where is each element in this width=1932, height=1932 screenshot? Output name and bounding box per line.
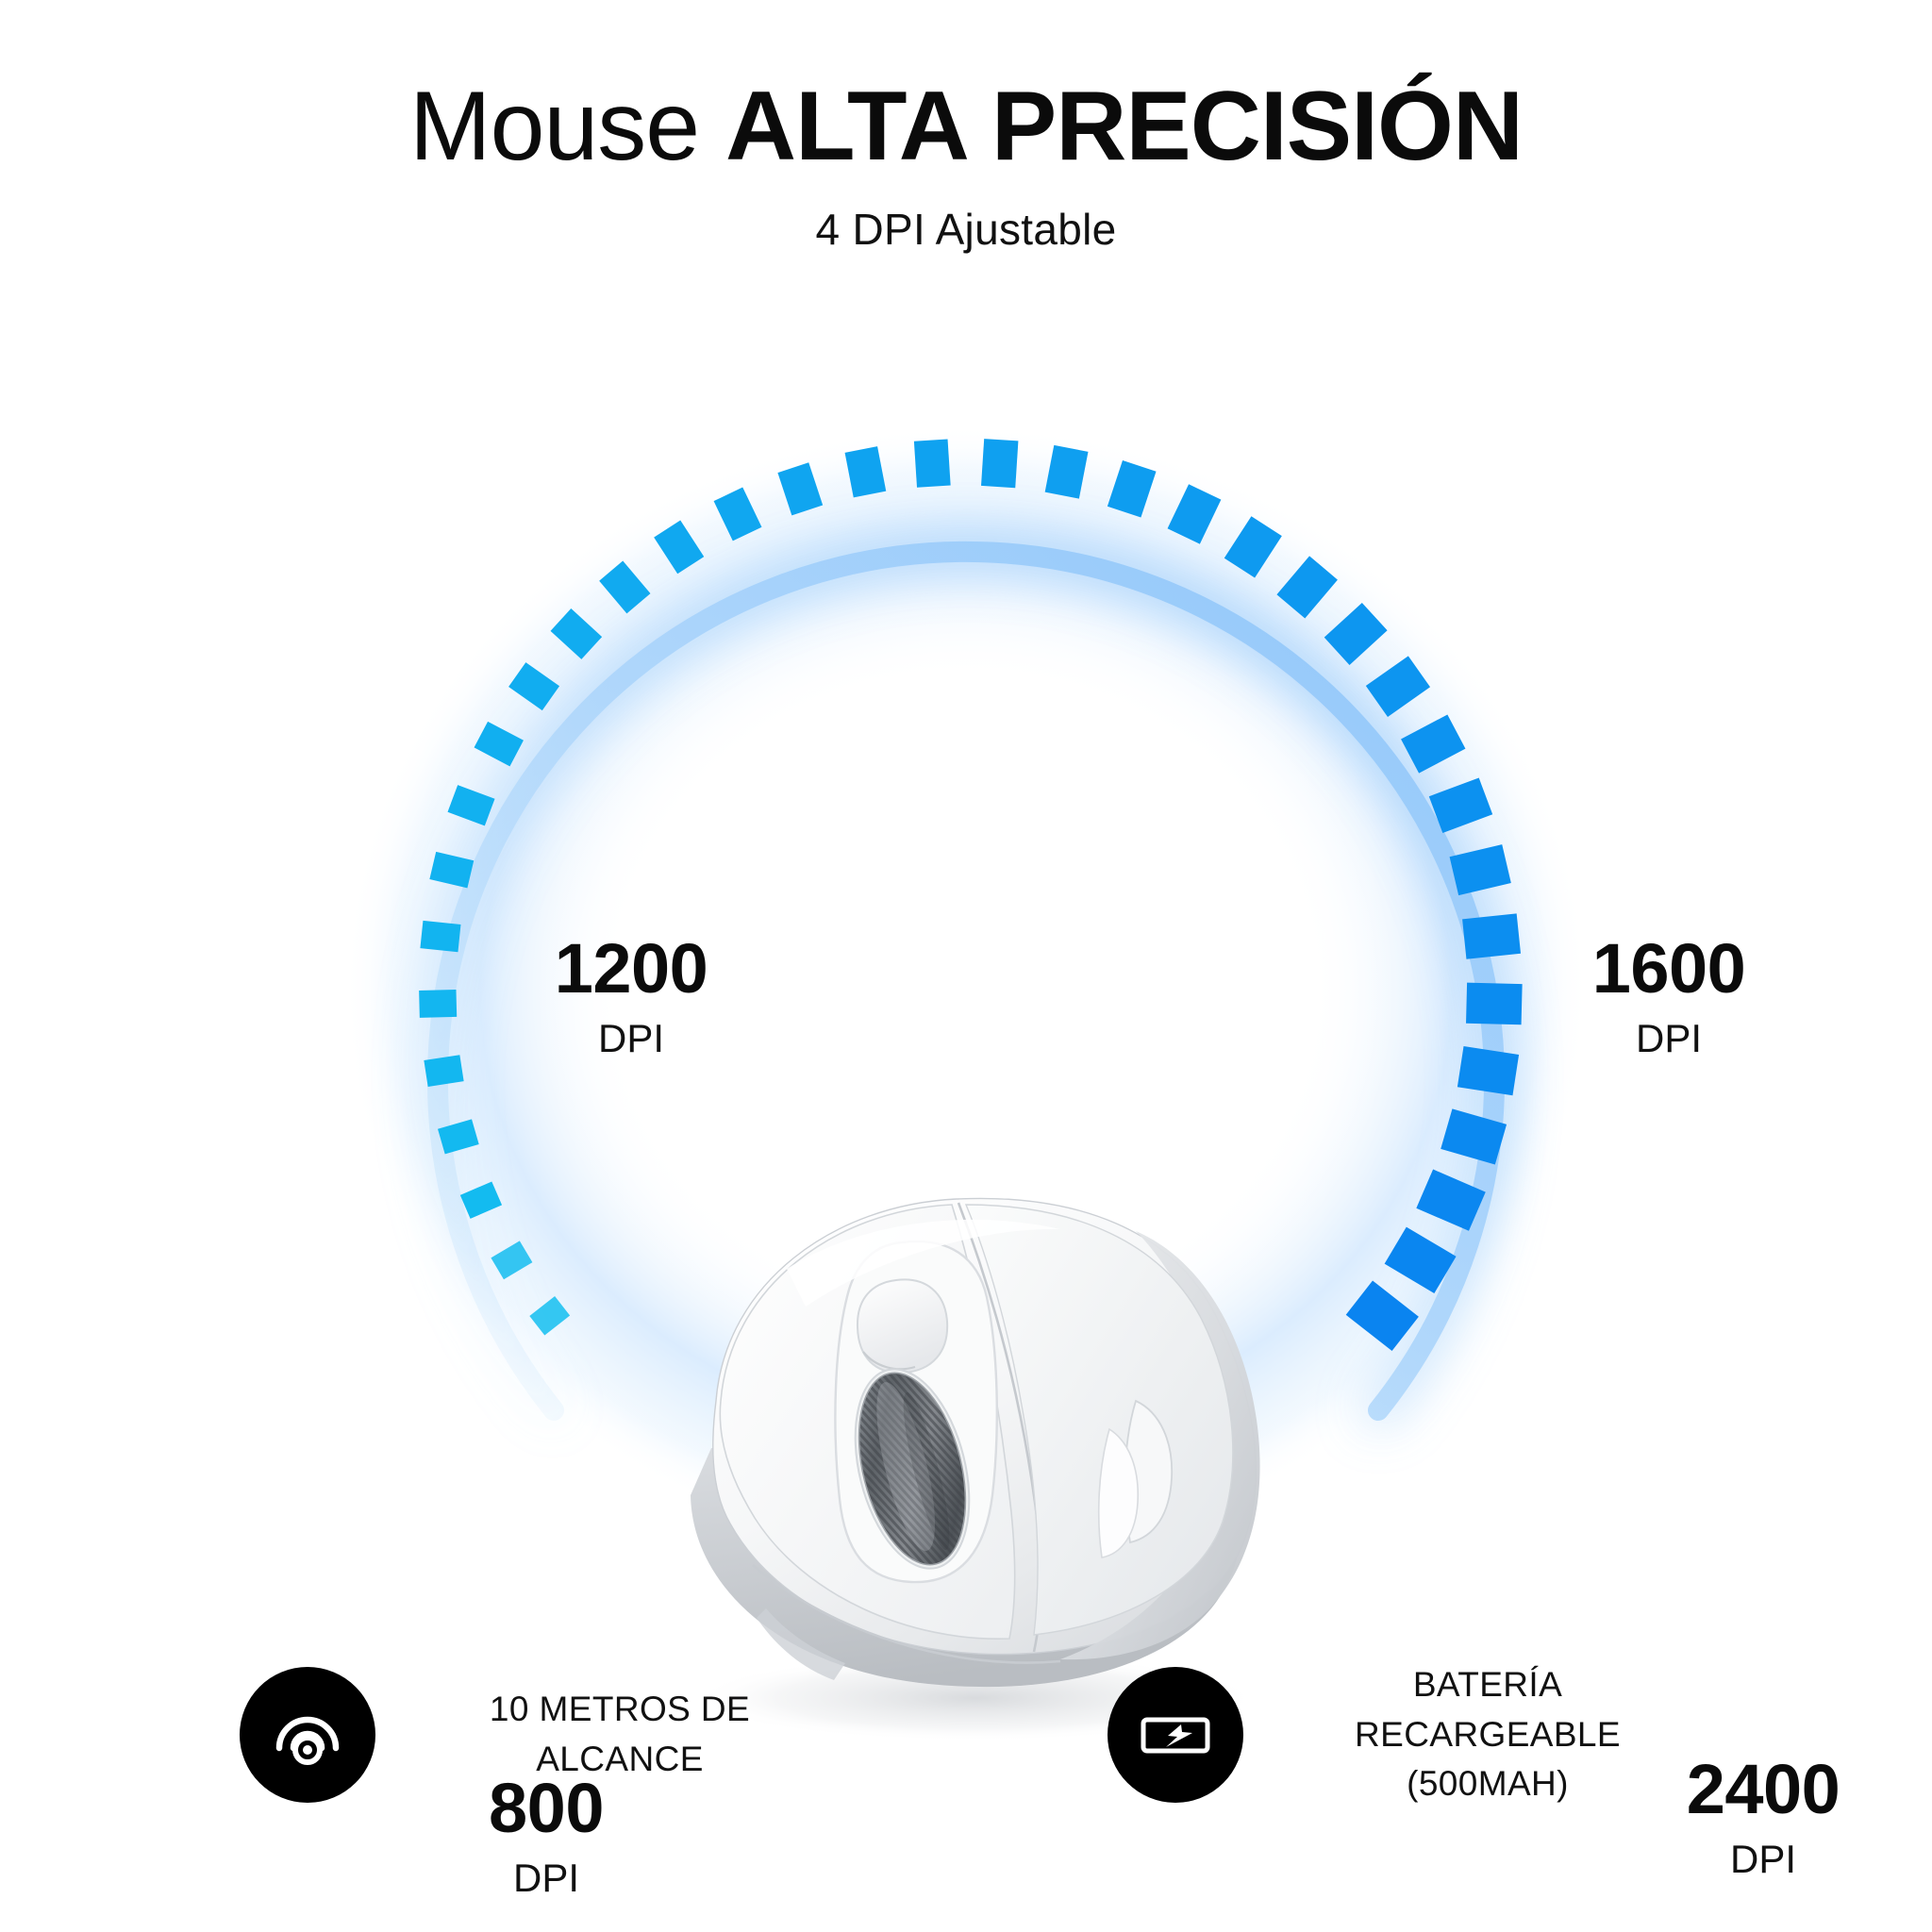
header: Mouse ALTA PRECISIÓN 4 DPI Ajustable — [0, 0, 1932, 255]
dial-tick — [914, 439, 951, 487]
dial-tick — [419, 990, 457, 1018]
feature-range-line2: ALCANCE — [415, 1735, 824, 1785]
dpi-label-1600: 1600 DPI — [1513, 934, 1824, 1058]
dpi-unit-800: DPI — [391, 1858, 702, 1898]
wireless-signal-icon — [240, 1667, 375, 1803]
feature-row: 10 METROS DE ALCANCE BATERÍA RECARGEABLE… — [0, 1660, 1932, 1809]
dial-tick — [981, 439, 1018, 488]
dial-tick — [424, 1055, 463, 1087]
dpi-label-1200: 1200 DPI — [475, 934, 787, 1058]
feature-battery-text: BATERÍA RECARGEABLE (500MAH) — [1283, 1660, 1692, 1809]
page-title-light: Mouse — [409, 72, 725, 181]
dial-tick — [420, 921, 460, 952]
dial-tick — [1462, 913, 1521, 958]
dpi-unit-2400: DPI — [1607, 1840, 1919, 1879]
page-title-bold: ALTA PRECISIÓN — [725, 72, 1523, 181]
page-title: Mouse ALTA PRECISIÓN — [0, 74, 1932, 179]
feature-range-text: 10 METROS DE ALCANCE — [415, 1685, 824, 1784]
dpi-value-1600: 1600 — [1513, 934, 1824, 1004]
page-subtitle: 4 DPI Ajustable — [0, 204, 1932, 255]
feature-range-line1: 10 METROS DE — [415, 1685, 824, 1735]
battery-charge-icon — [1108, 1667, 1243, 1803]
feature-battery-line3: (500MAH) — [1283, 1759, 1692, 1809]
feature-battery-line2: RECARGEABLE — [1283, 1710, 1692, 1760]
dpi-dial-stage: 1200 DPI 1600 DPI 800 DPI 2400 DPI — [0, 377, 1932, 1585]
mouse-dpi-button — [858, 1279, 947, 1373]
dial-tick — [1457, 1046, 1519, 1095]
dpi-unit-1600: DPI — [1513, 1019, 1824, 1058]
dpi-unit-1200: DPI — [475, 1019, 787, 1058]
feature-battery: BATERÍA RECARGEABLE (500MAH) — [1108, 1660, 1692, 1809]
dpi-value-1200: 1200 — [475, 934, 787, 1004]
feature-range: 10 METROS DE ALCANCE — [240, 1660, 824, 1809]
feature-battery-line1: BATERÍA — [1283, 1660, 1692, 1710]
